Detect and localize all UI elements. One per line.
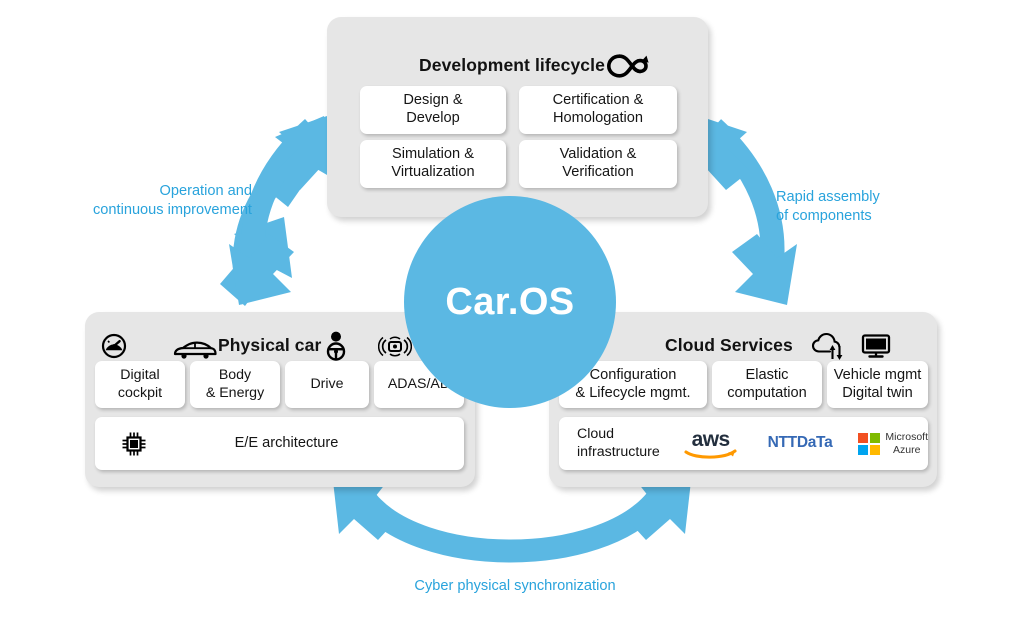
azure-logo-line2: Azure — [893, 444, 920, 456]
cloud-infrastructure-label: Cloudinfrastructure — [577, 426, 666, 462]
logo-row: aws NTTDaTa Microsoft — [680, 427, 928, 461]
operation-improvement-label: Operation andcontinuous improvement — [72, 182, 252, 221]
sensor-radar-car-icon — [378, 333, 412, 359]
card-drive[interactable]: Drive — [285, 361, 369, 408]
card-digital-cockpit[interactable]: Digitalcockpit — [95, 361, 185, 408]
car-side-icon — [173, 338, 217, 360]
microsoft-azure-logo: Microsoft Azure — [858, 431, 928, 455]
car-os-label: Car.OS — [445, 281, 574, 324]
cyber-physical-sync-label: Cyber physical synchronization — [330, 577, 700, 596]
cloud-sync-icon — [811, 331, 845, 361]
aws-logo: aws — [680, 427, 742, 461]
development-lifecycle-title: Development lifecycle — [419, 55, 605, 76]
infinity-loop-icon — [607, 53, 649, 79]
card-cloud-infrastructure[interactable]: Cloudinfrastructure aws NTTDaTa — [559, 417, 928, 470]
physical-car-title: Physical car — [218, 335, 321, 356]
development-lifecycle-panel: Development lifecycle Design &Develop Ce… — [327, 17, 708, 217]
diagram-canvas: Development lifecycle Design &Develop Ce… — [0, 0, 1024, 628]
ee-architecture-label: E/E architecture — [149, 435, 464, 453]
card-certification-homologation[interactable]: Certification &Homologation — [519, 86, 677, 134]
card-design-develop[interactable]: Design &Develop — [360, 86, 506, 134]
driver-steering-wheel-icon — [325, 331, 347, 361]
gauge-icon — [101, 333, 127, 359]
azure-logo-line1: Microsoft — [885, 431, 928, 443]
car-os-center-circle: Car.OS — [404, 196, 616, 408]
card-body-energy[interactable]: Body& Energy — [190, 361, 280, 408]
card-vehicle-mgmt-digital-twin[interactable]: Vehicle mgmtDigital twin — [827, 361, 928, 408]
chip-icon — [119, 429, 149, 459]
card-validation-verification[interactable]: Validation &Verification — [519, 140, 677, 188]
ntt-data-logo: NTTDaTa — [768, 434, 833, 453]
card-ee-architecture[interactable]: E/E architecture — [95, 417, 464, 470]
card-elastic-computation[interactable]: Elasticcomputation — [712, 361, 822, 408]
card-simulation-virtualization[interactable]: Simulation &Virtualization — [360, 140, 506, 188]
monitor-icon — [861, 333, 891, 359]
rapid-assembly-label: Rapid assemblyof components — [776, 188, 966, 227]
azure-squares-icon — [858, 433, 880, 455]
cloud-services-title: Cloud Services — [665, 335, 793, 356]
azure-logo-text: Microsoft Azure — [885, 431, 928, 455]
